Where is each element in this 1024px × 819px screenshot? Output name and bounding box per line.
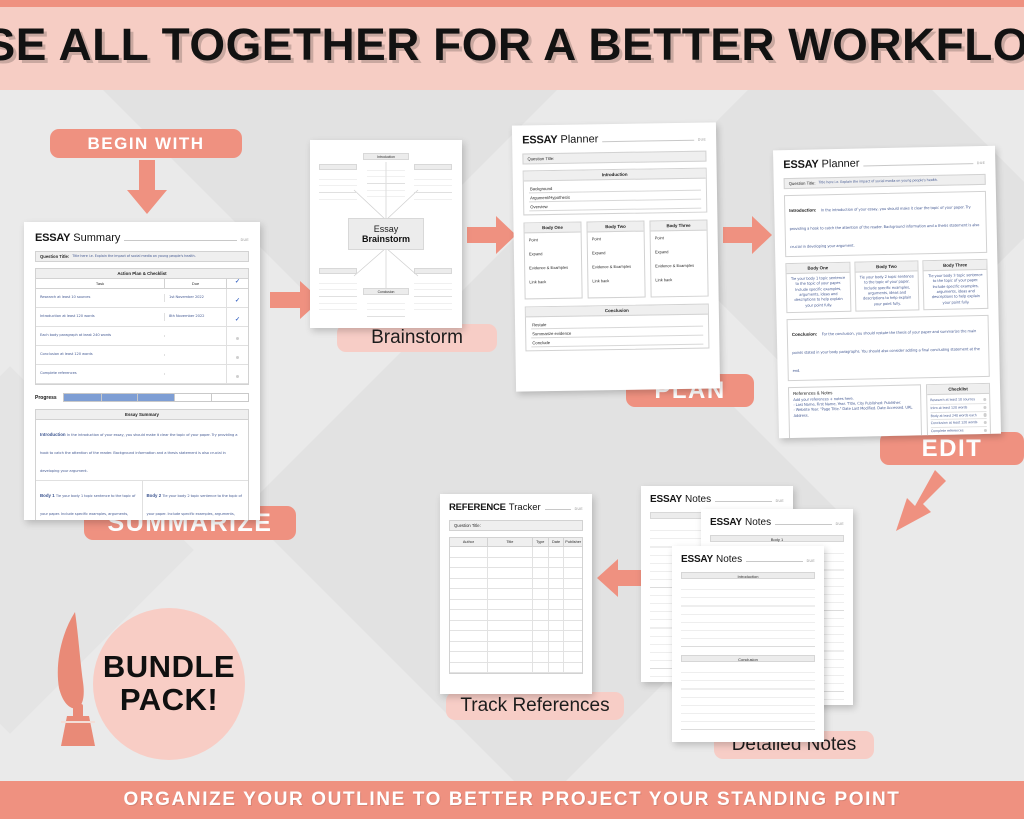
body-field[interactable]: Evidence & Examples [529, 265, 577, 271]
empty-check-icon [236, 356, 239, 359]
notes-front-title-bold: ESSAY [681, 554, 713, 565]
introduction-block: Introduction BackgroundArgument/Hypothes… [523, 168, 708, 216]
table-cell[interactable] [563, 558, 581, 568]
due-label: DUE [698, 138, 706, 142]
column-header: Author [450, 538, 487, 546]
body-field[interactable]: Link back [529, 279, 577, 285]
body-field[interactable]: Point [655, 235, 703, 241]
due-rule [864, 163, 973, 166]
arrow-down-icon [126, 160, 168, 215]
column-header: Type [532, 538, 548, 546]
table-cell[interactable] [450, 663, 487, 673]
table-row[interactable]: Introduction at least 120 words8th Novem… [36, 308, 248, 327]
reference-title-bold: REFERENCE [449, 502, 506, 513]
check-cell[interactable]: ✓ [226, 289, 248, 307]
node-introduction: Introduction [363, 153, 409, 160]
table-cell[interactable] [548, 579, 564, 589]
poster-canvas: USE ALL TOGETHER FOR A BETTER WORKFLOW O… [0, 0, 1024, 819]
due-rule [746, 561, 803, 562]
table-cell[interactable] [563, 621, 581, 631]
task-cell: Introduction at least 120 words [36, 313, 164, 320]
conclusion-block: Conclusion RestateSummarize evidenceConc… [525, 304, 710, 352]
table-cell[interactable] [548, 547, 564, 557]
checklist-text: Research at least 10 sources [930, 397, 975, 403]
table-cell[interactable] [487, 579, 532, 589]
table-cell[interactable] [450, 568, 487, 578]
checklist-text: Conclusion at least 120 words [931, 421, 978, 427]
lines-bl [319, 277, 357, 311]
table-cell[interactable] [532, 642, 548, 652]
question-title-value: Title here i.e. Explain the impact of so… [818, 178, 937, 185]
reference-table-header: AuthorTitleTypeDatePublisher [450, 538, 582, 547]
question-title-field[interactable]: Question Title: Title here i.e. Explain … [35, 251, 249, 262]
body-columns: Body OnePointExpandEvidence & ExamplesLi… [523, 220, 708, 300]
body-text: Tie your body 3 topic sentence to the to… [924, 270, 987, 309]
table-cell[interactable] [563, 589, 581, 599]
summary-title: ESSAY Summary [35, 232, 120, 244]
col-task: Task [36, 279, 164, 288]
summary-title-bold: ESSAY [35, 232, 70, 244]
due-label: DUE [776, 499, 784, 503]
progress-row: Progress [35, 393, 249, 402]
planner-filled-title-light: Planner [821, 158, 859, 171]
introduction-text: In the introduction of your essay, you s… [790, 205, 980, 249]
check-cell[interactable]: ✓ [226, 308, 248, 326]
due-label: DUE [836, 522, 844, 526]
body-columns-filled: Body OneTie your body 1 topic sentence t… [785, 259, 988, 313]
body-field[interactable]: Evidence & Examples [592, 264, 640, 270]
body-text: Tie your body 2 topic sentence to the to… [855, 271, 918, 310]
table-row[interactable] [450, 600, 582, 611]
table-cell[interactable] [563, 568, 581, 578]
section-label: Body 2 [147, 493, 163, 498]
planner-blank-title: ESSAY Planner [522, 133, 598, 146]
table-cell[interactable] [548, 589, 564, 599]
task-cell: Research at least 10 sources [36, 294, 164, 301]
empty-check-icon[interactable] [984, 421, 987, 424]
table-row[interactable] [450, 663, 582, 674]
question-title-field[interactable]: Question Title: [522, 151, 706, 165]
table-cell[interactable] [450, 589, 487, 599]
empty-check-icon [236, 337, 239, 340]
lines-tl [319, 173, 357, 201]
body-text: Tie your body 1 topic sentence to the to… [787, 273, 850, 312]
table-cell[interactable] [532, 558, 548, 568]
reference-table: AuthorTitleTypeDatePublisher [449, 537, 583, 674]
checklist-text: Intro at least 120 words [930, 405, 967, 411]
conclusion-rows: RestateSummarize evidenceConclude [526, 315, 708, 351]
table-cell[interactable] [532, 621, 548, 631]
table-cell[interactable] [487, 621, 532, 631]
summary-section[interactable]: Body 2 Tie your body 2 topic sentence to… [143, 481, 249, 520]
body-column[interactable]: Body TwoPointExpandEvidence & ExamplesLi… [586, 221, 645, 299]
column-header: Publisher [563, 538, 581, 546]
table-cell[interactable] [487, 547, 532, 557]
introduction-rows: BackgroundArgument/HypothesisOverview [524, 179, 706, 215]
table-row[interactable] [450, 631, 582, 642]
table-cell[interactable] [548, 558, 564, 568]
table-cell[interactable] [450, 600, 487, 610]
progress-fill [64, 394, 175, 401]
check-icon: ✓ [235, 317, 240, 323]
table-cell[interactable] [450, 642, 487, 652]
table-cell[interactable] [548, 610, 564, 620]
introduction-filled: Introduction: In the introduction of you… [784, 191, 987, 257]
due-label: DUE [575, 507, 583, 511]
table-cell[interactable] [487, 642, 532, 652]
task-cell: Conclusion at least 120 words [36, 351, 164, 358]
reference-title: REFERENCE Tracker [449, 502, 541, 513]
bundle-line-2: PACK! [120, 684, 218, 717]
lines-top [367, 164, 405, 201]
table-row[interactable] [450, 610, 582, 621]
check-cell[interactable] [226, 327, 248, 345]
center-line-1: Essay [374, 224, 399, 234]
due-cell: 1st November 2022 [164, 294, 226, 301]
section-text: In the introduction of your essay, you s… [40, 433, 237, 473]
document-essay-notes-front[interactable]: ESSAY Notes DUE Introduction Conclusion [672, 546, 824, 742]
check-icon: ✓ [235, 298, 240, 304]
notes-front-lines-top [681, 582, 815, 652]
table-row[interactable]: Complete references [36, 365, 248, 384]
planner-filled-title: ESSAY Planner [783, 158, 859, 172]
node-blank-bl[interactable] [319, 268, 357, 274]
label-track-references: Track References [446, 692, 624, 720]
summary-title-light: Summary [73, 232, 120, 244]
notes-back-title: ESSAY Notes [650, 494, 711, 505]
table-row[interactable]: Conclusion at least 120 words [36, 346, 248, 365]
table-cell[interactable] [487, 631, 532, 641]
checklist-block[interactable]: Checklist Research at least 10 sourcesIn… [926, 383, 991, 438]
table-cell[interactable] [563, 652, 581, 662]
table-row[interactable] [450, 642, 582, 653]
due-cell [164, 373, 226, 375]
notes-mid-section-bar: Body 1 [710, 535, 844, 542]
table-cell[interactable] [548, 652, 564, 662]
table-cell[interactable] [548, 568, 564, 578]
check-cell[interactable] [226, 365, 248, 383]
label-brainstorm: Brainstorm [337, 324, 497, 352]
notes-mid-title: ESSAY Notes [710, 517, 771, 528]
due-rule [545, 509, 571, 510]
question-title-label: Question Title: [527, 156, 554, 161]
planner-blank-title-light: Planner [560, 133, 598, 146]
table-cell[interactable] [532, 547, 548, 557]
body-field[interactable]: Expand [655, 249, 703, 255]
center-line-2: Brainstorm [362, 234, 410, 244]
due-cell [164, 354, 226, 356]
top-banner: USE ALL TOGETHER FOR A BETTER WORKFLOW [0, 0, 1024, 90]
introduction-label: Introduction: [789, 207, 816, 213]
table-cell[interactable] [532, 589, 548, 599]
question-title-field[interactable]: Question Title: Title here i.e. Explain … [784, 174, 986, 189]
table-cell[interactable] [563, 642, 581, 652]
question-title-value: Title here i.e. Explain the impact of so… [72, 254, 195, 259]
notes-back-title-bold: ESSAY [650, 494, 682, 505]
table-cell[interactable] [548, 600, 564, 610]
conclusion-label: Conclusion: [792, 332, 817, 338]
progress-bar [63, 393, 249, 402]
question-title-field[interactable]: Question Title: [449, 520, 583, 531]
due-rule [124, 240, 236, 241]
document-reference-tracker[interactable]: REFERENCE Tracker DUE Question Title: Au… [440, 494, 592, 694]
action-plan-table: Action Plan & Checklist Task Due ✓ Resea… [35, 268, 249, 385]
question-title-label: Question Title: [789, 180, 816, 186]
table-cell[interactable] [450, 579, 487, 589]
due-label: DUE [977, 161, 985, 165]
table-cell[interactable] [548, 621, 564, 631]
document-essay-brainstorm[interactable]: Introduction Conclusion Essay Brainstorm [310, 140, 462, 328]
field-row[interactable]: Overview [529, 200, 701, 212]
node-blank-tr[interactable] [414, 164, 452, 170]
table-row[interactable] [450, 652, 582, 663]
essay-summary-sections: Introduction In the introduction of your… [36, 420, 248, 520]
task-cell: Complete references [36, 370, 164, 377]
lines-br [414, 277, 452, 311]
node-conclusion: Conclusion [363, 288, 409, 295]
empty-check-icon[interactable] [983, 413, 986, 416]
section-label: Introduction [40, 432, 67, 437]
table-cell[interactable] [487, 610, 532, 620]
due-label: DUE [807, 559, 815, 563]
col-due: Due [164, 279, 226, 288]
field-row[interactable]: Conclude [531, 336, 703, 348]
document-essay-planner-filled[interactable]: ESSAY Planner DUE Question Title: Title … [773, 146, 1001, 439]
body-column[interactable]: Body ThreeTie your body 3 topic sentence… [923, 259, 989, 310]
notes-front-title-light: Notes [716, 554, 742, 565]
table-cell[interactable] [532, 631, 548, 641]
bundle-line-1: BUNDLE [103, 651, 235, 684]
notes-front-title: ESSAY Notes [681, 554, 742, 565]
check-cell[interactable] [226, 346, 248, 364]
col-check: ✓ [226, 279, 248, 288]
due-cell [164, 335, 226, 337]
table-cell[interactable] [532, 600, 548, 610]
checklist-text: Complete references [931, 429, 964, 434]
body-field[interactable]: Expand [592, 250, 640, 256]
body-field[interactable]: Point [529, 237, 577, 243]
bottom-banner: ORGANIZE YOUR OUTLINE TO BETTER PROJECT … [0, 781, 1024, 819]
poster-title: USE ALL TOGETHER FOR A BETTER WORKFLOW [0, 19, 1024, 71]
notes-front-lines-bottom [681, 665, 815, 737]
summary-section[interactable]: Body 1 Tie your body 1 topic sentence to… [36, 481, 143, 520]
summary-section[interactable]: Introduction In the introduction of your… [36, 420, 248, 481]
summary-section-row: Body 1 Tie your body 1 topic sentence to… [36, 481, 248, 520]
question-title-label: Question Title: [40, 254, 69, 259]
table-cell[interactable] [487, 600, 532, 610]
node-center: Essay Brainstorm [348, 218, 424, 250]
table-cell[interactable] [532, 663, 548, 673]
planner-blank-title-bold: ESSAY [522, 134, 557, 147]
table-cell[interactable] [487, 652, 532, 662]
body-field[interactable]: Evidence & Examples [655, 263, 703, 269]
table-row[interactable] [450, 621, 582, 632]
references-lines: Add your references + notes here.- Last … [793, 395, 916, 419]
checklist-text: Body at least 240 words each [931, 413, 977, 419]
action-plan-header: Action Plan & Checklist [36, 269, 248, 279]
column-header: Title [487, 538, 532, 546]
conclusion-filled: Conclusion: For the conclusion, you shou… [787, 315, 990, 381]
empty-check-icon[interactable] [983, 398, 986, 401]
table-cell[interactable] [548, 663, 564, 673]
table-row[interactable] [450, 589, 582, 600]
table-cell[interactable] [563, 547, 581, 557]
notes-front-section-intro: Introduction [681, 572, 815, 579]
table-row[interactable] [450, 579, 582, 590]
body-field[interactable]: Expand [529, 251, 577, 257]
label-begin-with: BEGIN WITH [50, 129, 242, 158]
table-cell[interactable] [450, 558, 487, 568]
table-cell[interactable] [548, 642, 564, 652]
table-header-row: Task Due ✓ [36, 279, 248, 289]
notes-mid-title-light: Notes [745, 517, 771, 528]
table-cell[interactable] [487, 663, 532, 673]
body-field[interactable]: Point [592, 236, 640, 242]
table-cell[interactable] [532, 610, 548, 620]
table-cell[interactable] [450, 652, 487, 662]
due-label: DUE [241, 238, 249, 242]
table-cell[interactable] [450, 547, 487, 557]
poster-subtitle: ORGANIZE YOUR OUTLINE TO BETTER PROJECT … [123, 789, 900, 811]
lines-bottom [367, 297, 405, 319]
table-cell[interactable] [563, 579, 581, 589]
task-cell: Each body paragraph at least 240 words [36, 332, 164, 339]
table-row[interactable] [450, 558, 582, 569]
document-essay-summary[interactable]: ESSAY Summary DUE Question Title: Title … [24, 222, 260, 520]
table-cell[interactable] [563, 663, 581, 673]
table-cell[interactable] [487, 558, 532, 568]
table-cell[interactable] [487, 568, 532, 578]
essay-summary-table: Essay Summary Introduction In the introd… [35, 409, 249, 520]
notes-front-section-conclusion: Conclusion [681, 655, 815, 662]
table-row[interactable]: Each body paragraph at least 240 words [36, 327, 248, 346]
table-cell[interactable] [487, 589, 532, 599]
column-header: Date [548, 538, 564, 546]
due-rule [602, 140, 693, 142]
checklist-items: Research at least 10 sourcesIntro at lea… [927, 394, 990, 438]
question-title-label: Question Title: [454, 523, 481, 528]
due-cell: 8th November 2022 [164, 313, 226, 320]
due-rule [715, 501, 772, 502]
progress-label: Progress [35, 395, 57, 401]
section-label: Body 1 [40, 493, 56, 498]
bundle-pack-badge: BUNDLE PACK! [93, 608, 245, 760]
references-notes-block[interactable]: References & Notes Add your references +… [788, 384, 922, 438]
reference-table-rows [450, 547, 582, 673]
table-cell[interactable] [532, 568, 548, 578]
table-cell[interactable] [563, 610, 581, 620]
document-essay-planner-blank[interactable]: ESSAY Planner DUE Question Title: Introd… [512, 122, 720, 391]
table-cell[interactable] [548, 631, 564, 641]
due-rule [775, 524, 832, 525]
arrow-down-left-icon [885, 470, 947, 532]
body-column[interactable]: Body OnePointExpandEvidence & ExamplesLi… [523, 222, 582, 300]
empty-check-icon[interactable] [983, 406, 986, 409]
planner-filled-title-bold: ESSAY [783, 158, 819, 171]
node-blank-br[interactable] [414, 268, 452, 274]
table-row[interactable] [450, 568, 582, 579]
table-cell[interactable] [450, 610, 487, 620]
reference-title-light: Tracker [509, 502, 541, 513]
node-blank-tl[interactable] [319, 164, 357, 170]
table-cell[interactable] [450, 621, 487, 631]
body-column[interactable]: Body TwoTie your body 2 topic sentence t… [854, 260, 920, 311]
table-row[interactable]: Research at least 10 sources1st November… [36, 289, 248, 308]
body-field[interactable]: Link back [655, 277, 703, 283]
table-cell[interactable] [563, 600, 581, 610]
body-column[interactable]: Body ThreePointExpandEvidence & Examples… [649, 220, 708, 298]
table-cell[interactable] [563, 631, 581, 641]
body-field[interactable]: Link back [592, 278, 640, 284]
reference-line: - Website Year. "Page Title." Date Last … [793, 406, 916, 419]
lines-tr [414, 173, 452, 201]
arrow-right-icon [467, 215, 517, 255]
arrow-right-icon [723, 215, 773, 255]
table-cell[interactable] [450, 631, 487, 641]
notes-back-title-light: Notes [685, 494, 711, 505]
conclusion-text: For the conclusion, you should restate t… [792, 329, 980, 373]
table-row[interactable] [450, 547, 582, 558]
empty-check-icon[interactable] [984, 429, 987, 432]
action-plan-rows: Research at least 10 sources1st November… [36, 289, 248, 384]
label-edit: EDIT [880, 432, 1024, 465]
notes-mid-title-bold: ESSAY [710, 517, 742, 528]
empty-check-icon [236, 375, 239, 378]
table-cell[interactable] [532, 652, 548, 662]
table-cell[interactable] [532, 579, 548, 589]
essay-summary-header: Essay Summary [36, 410, 248, 420]
body-column[interactable]: Body OneTie your body 1 topic sentence t… [785, 262, 851, 313]
